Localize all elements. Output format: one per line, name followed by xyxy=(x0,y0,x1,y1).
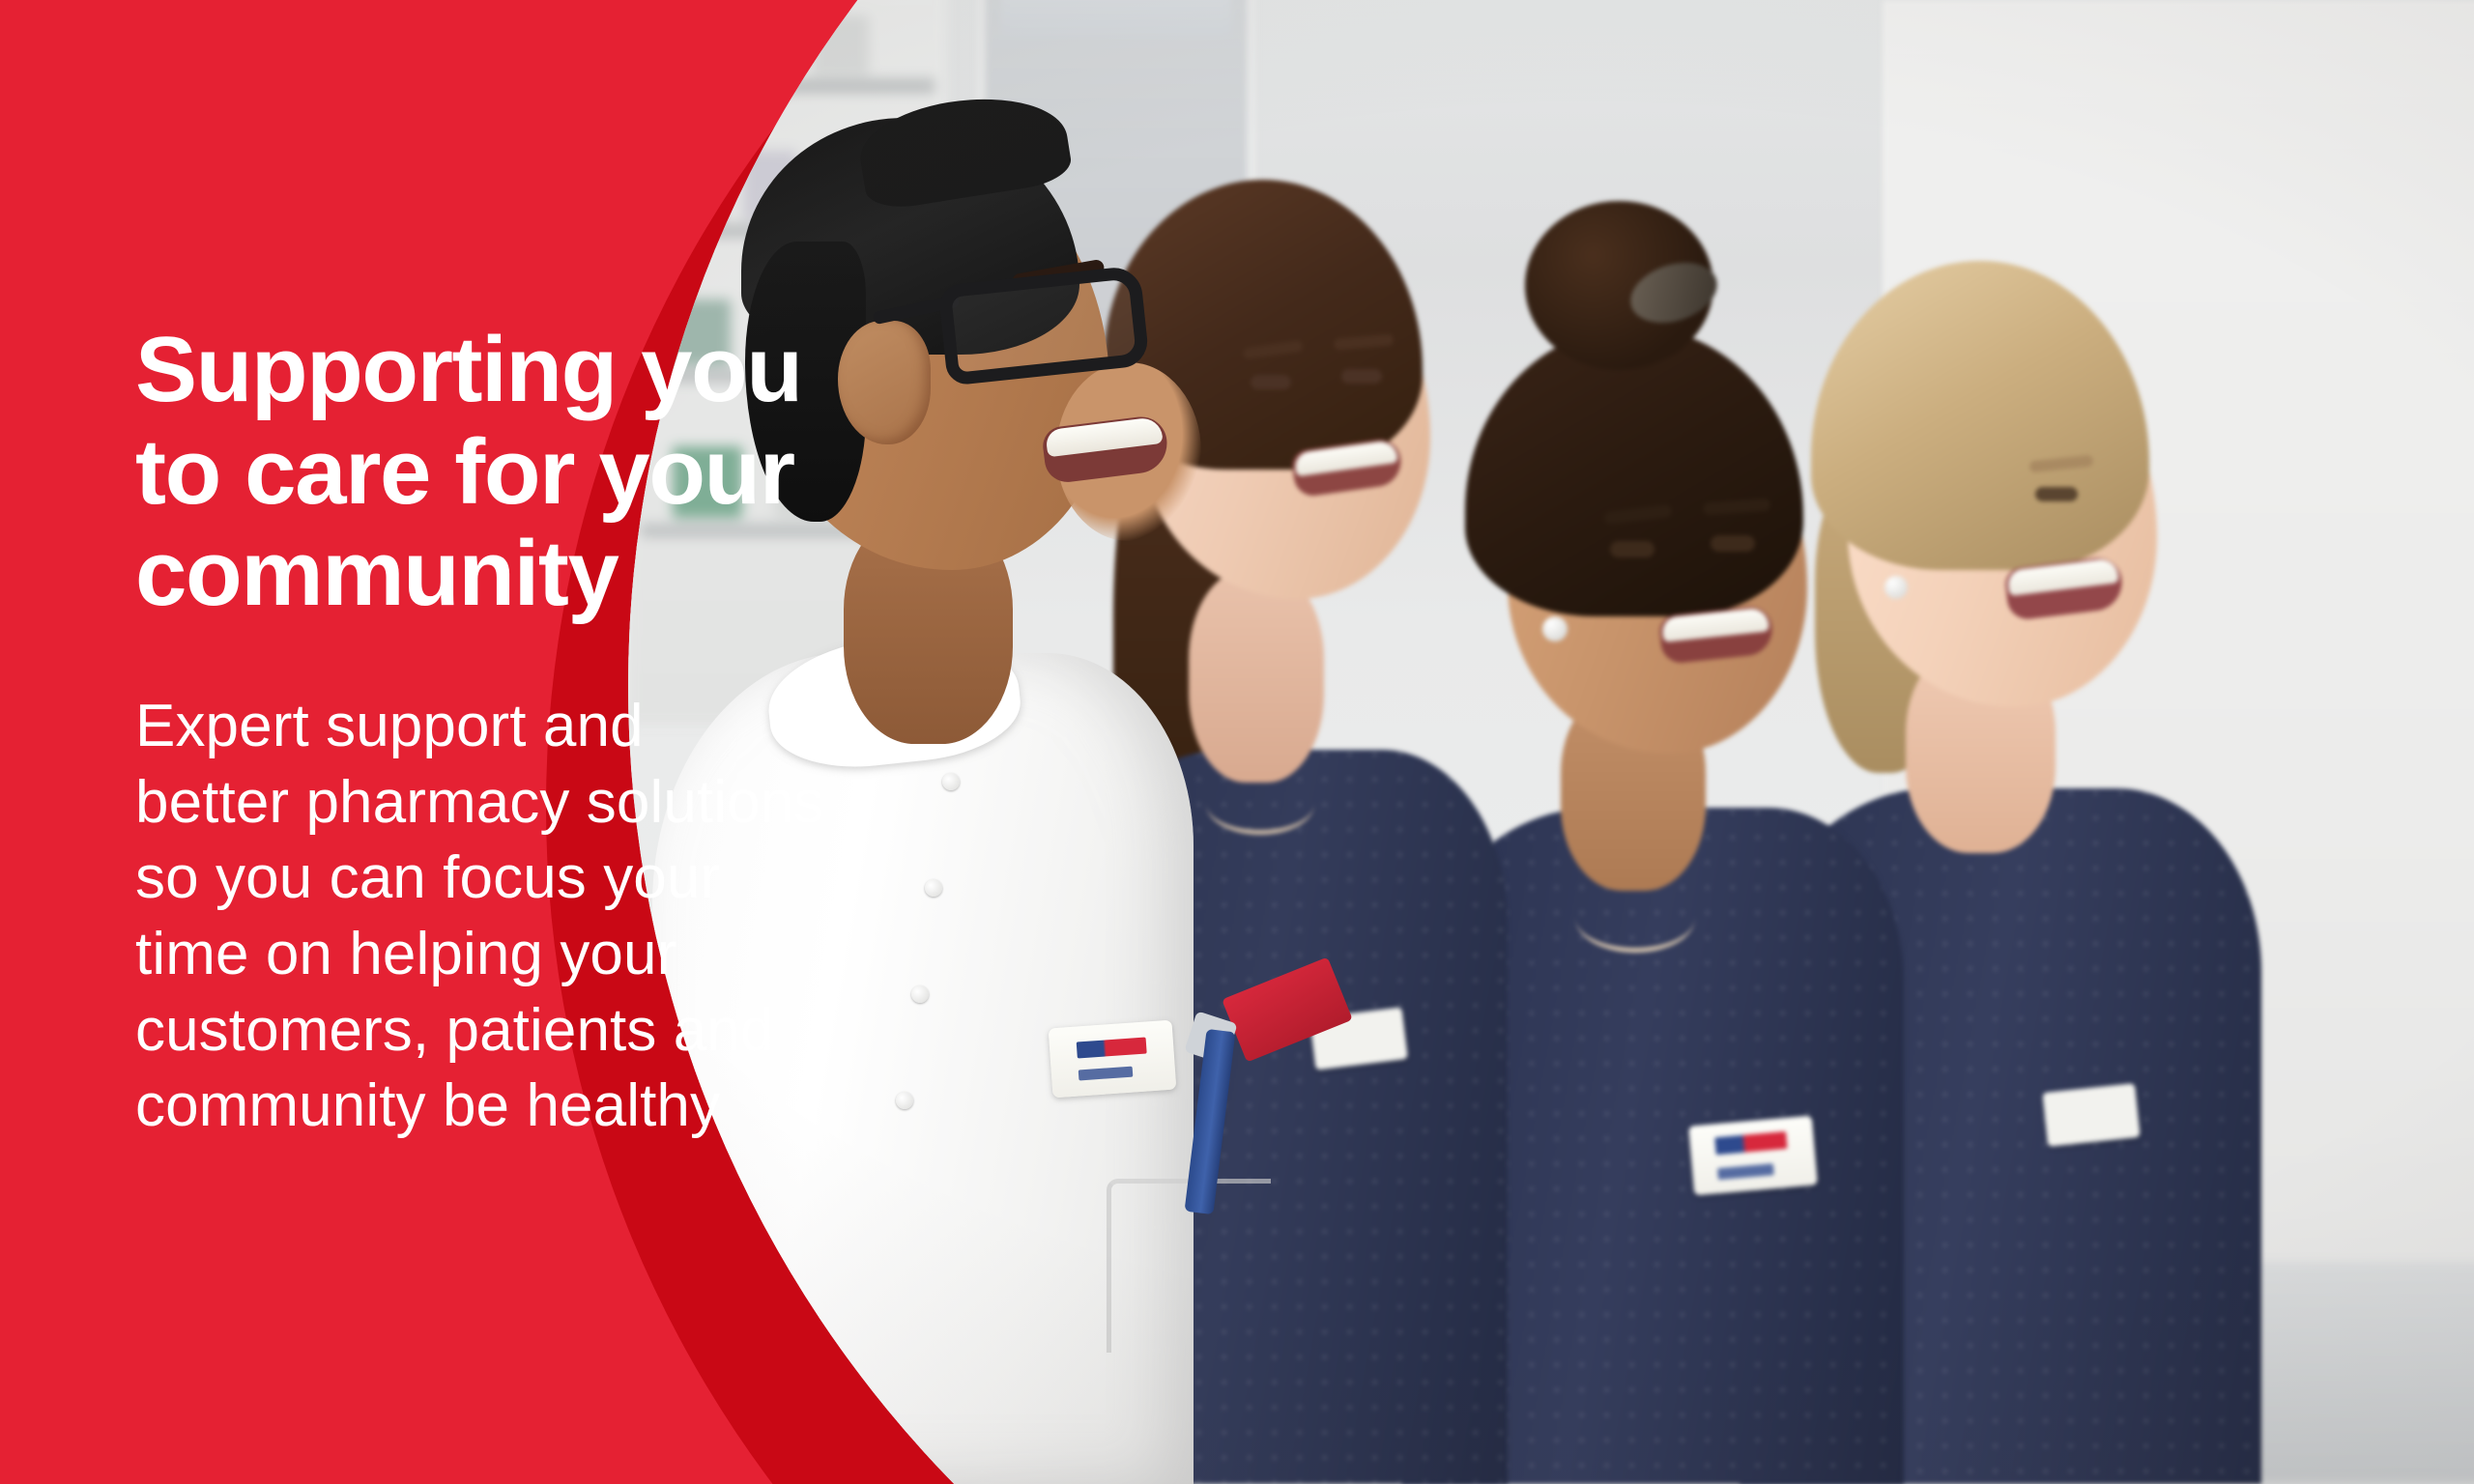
headline-line-1: Supporting you xyxy=(135,318,802,421)
hero-photo xyxy=(628,0,2474,1484)
body-line-2: better pharmacy solutions xyxy=(135,769,823,836)
page-title: Supporting you to care for your communit… xyxy=(135,319,841,625)
name-badge xyxy=(1049,1020,1177,1099)
body-line-3: so you can focus your xyxy=(135,844,720,911)
headline-line-3: community xyxy=(135,522,618,625)
necklace xyxy=(1575,883,1695,953)
hero-description: Expert support and better pharmacy solut… xyxy=(135,689,899,1145)
hero-banner: Supporting you to care for your communit… xyxy=(0,0,2474,1484)
body-line-1: Expert support and xyxy=(135,693,644,759)
pharmacy-scene xyxy=(628,0,2474,1484)
eyeglasses xyxy=(937,265,1150,385)
body-line-6: community be healthy xyxy=(135,1072,720,1139)
headline-line-2: to care for your xyxy=(135,420,794,524)
body-line-4: time on helping your xyxy=(135,921,676,987)
hero-photo-circle xyxy=(628,0,2474,1484)
hero-text-column: Supporting you to care for your communit… xyxy=(135,319,899,1145)
body-line-5: customers, patients and xyxy=(135,997,774,1064)
name-badge xyxy=(2042,1083,2140,1147)
name-badge xyxy=(1688,1116,1818,1196)
